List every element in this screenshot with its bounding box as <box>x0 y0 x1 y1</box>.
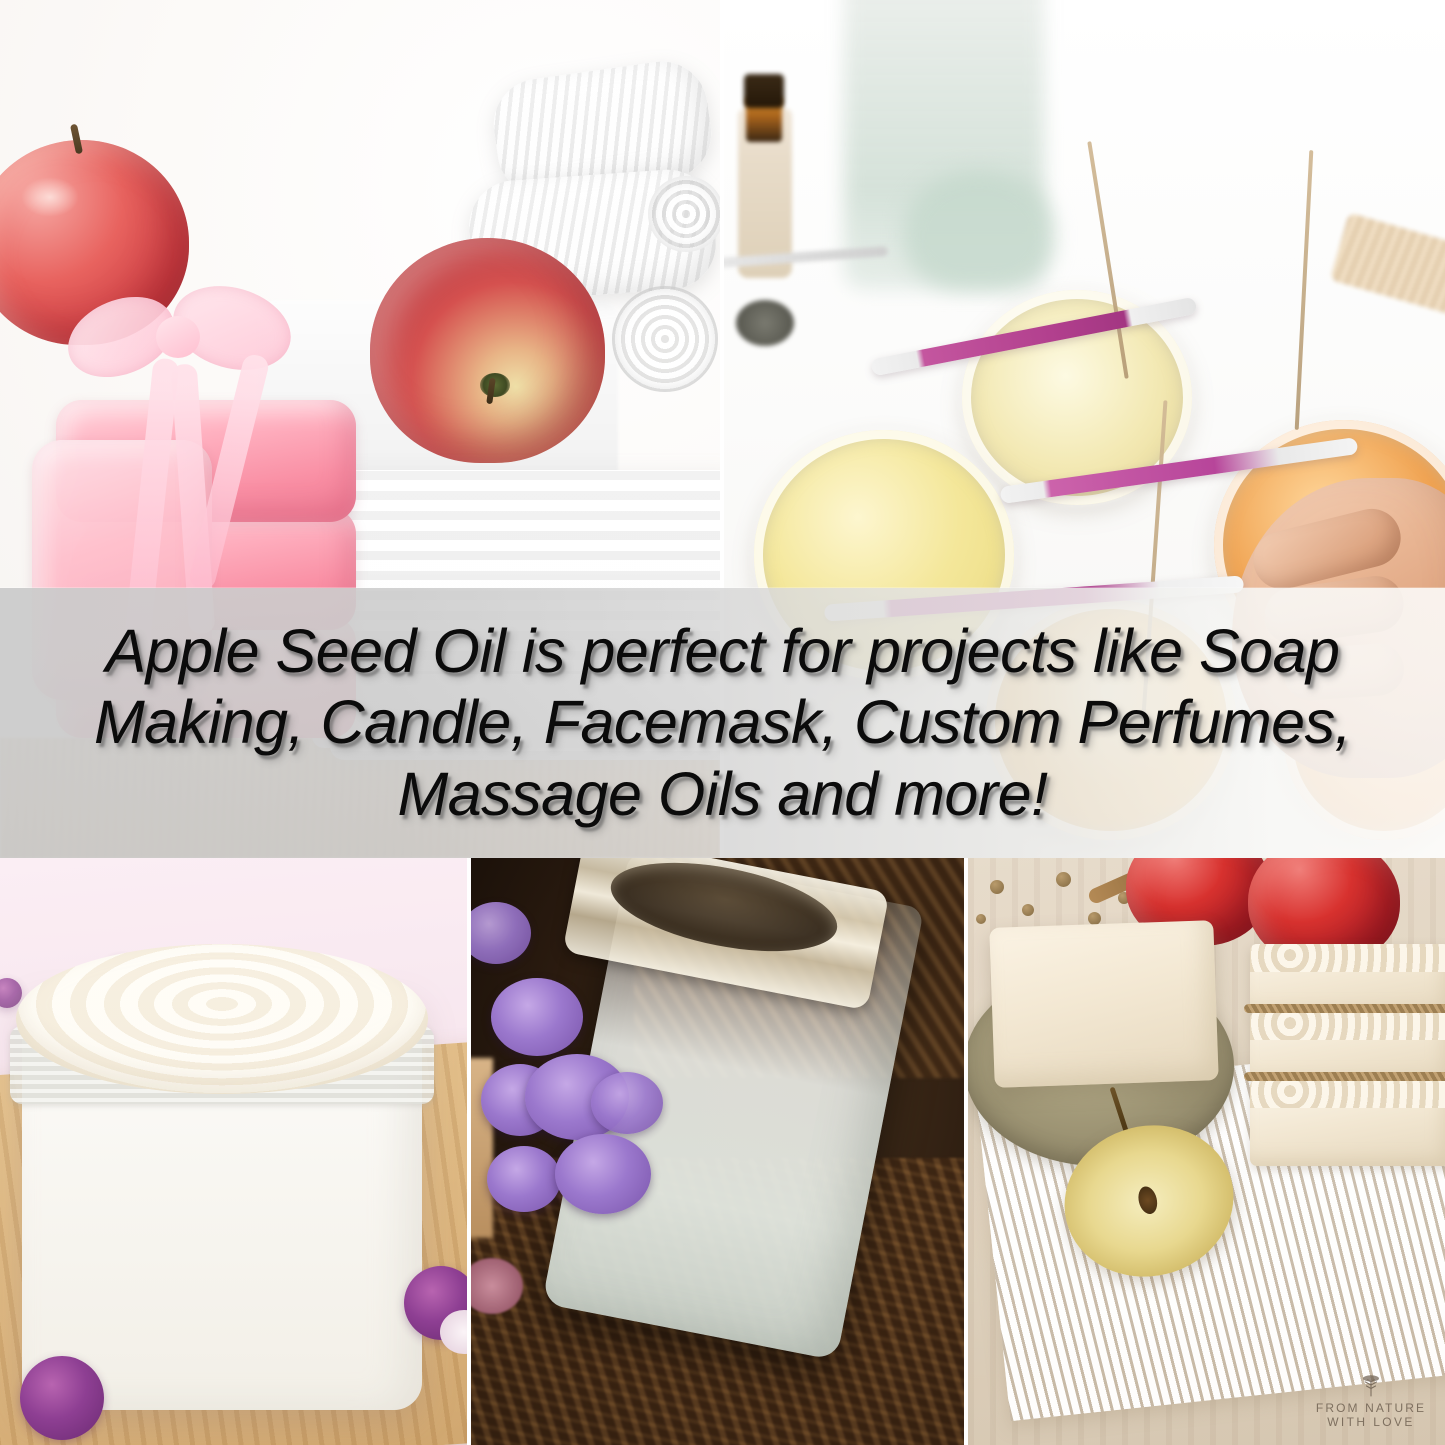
dried-flower-front-left <box>20 1356 104 1440</box>
apple-highlight <box>21 177 79 217</box>
lilac-blossom-5 <box>487 1146 561 1212</box>
product-image-collage: FROM NATURE WITH LOVE Apple Seed Oil is … <box>0 0 1445 1445</box>
panel-body-butter <box>0 858 467 1445</box>
lilac-blossom-7 <box>591 1072 663 1134</box>
soap-bar-on-dish <box>989 920 1218 1088</box>
apple-center <box>370 238 605 463</box>
spice-grain-1 <box>990 880 1004 894</box>
whipped-body-butter-swirl <box>16 944 428 1094</box>
spice-grain-3 <box>1056 872 1071 887</box>
soap-texture-middle <box>1250 1012 1445 1040</box>
spice-grain-7 <box>976 914 986 924</box>
ribbon-knot <box>156 316 200 358</box>
towel-roll-spiral-top <box>648 176 720 252</box>
spice-grain-4 <box>1088 912 1101 925</box>
marketing-text-band: Apple Seed Oil is perfect for projects l… <box>0 588 1445 858</box>
pink-ribbon-bow <box>60 272 310 412</box>
soap-texture-top <box>1250 944 1445 972</box>
soap-texture-bottom <box>1250 1080 1445 1108</box>
marketing-headline: Apple Seed Oil is perfect for projects l… <box>0 616 1445 830</box>
lilac-blossom-1 <box>491 978 583 1056</box>
collage-bottom-row: FROM NATURE WITH LOVE <box>0 858 1445 1445</box>
background-lid-blurred <box>736 300 794 346</box>
panel-candle-jar <box>471 858 963 1445</box>
background-bowl-blurred <box>904 170 1054 290</box>
apple-blossom-end <box>480 373 510 397</box>
lilac-blossom-4 <box>555 1134 651 1214</box>
essential-oil-bottle-cap <box>744 74 784 108</box>
stacked-soap-bars <box>1250 944 1445 1164</box>
spice-grain-2 <box>1022 904 1034 916</box>
panel-handmade-soap: FROM NATURE WITH LOVE <box>968 858 1445 1445</box>
soap-bar-stack-bottom <box>1250 1080 1445 1166</box>
twine-band-upper <box>1244 1004 1445 1013</box>
towel-roll-spiral-mid <box>612 286 718 392</box>
twine-band-lower <box>1244 1072 1445 1081</box>
